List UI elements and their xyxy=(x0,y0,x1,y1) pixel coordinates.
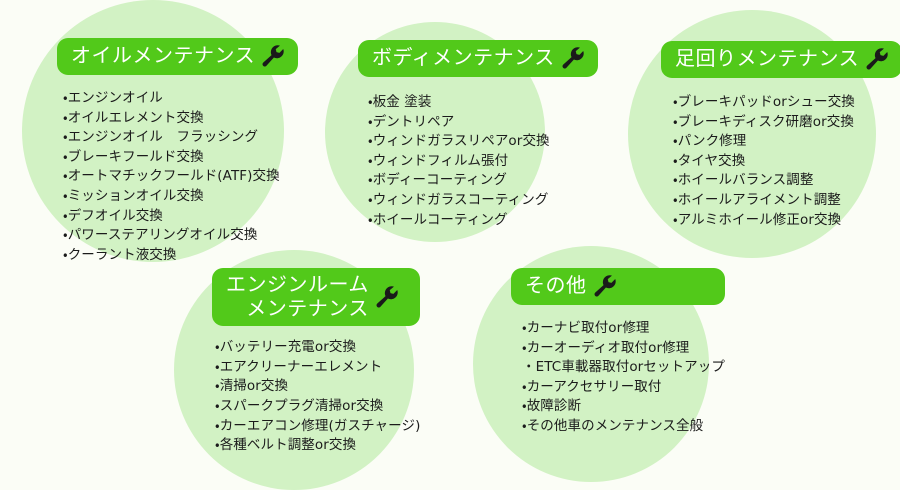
service-item: アルミホイール修正or交換 xyxy=(673,211,900,231)
service-item: ホイールバランス調整 xyxy=(673,171,900,191)
service-item: エンジンオイル xyxy=(63,89,298,109)
service-item: カーエアコン修理(ガスチャージ) xyxy=(215,417,420,437)
group-header-engine-room-maintenance: エンジンルームメンテナンス xyxy=(212,268,420,326)
group-title-other: その他 xyxy=(525,274,587,298)
group-title-suspension-maintenance: 足回りメンテナンス xyxy=(675,47,859,71)
service-item: オートマチックフールド(ATF)交換 xyxy=(63,167,298,187)
service-item: ホイールコーティング xyxy=(368,211,598,231)
service-item-list-body-maintenance: 板金 塗装デントリペアウィンドガラスリペアor交換ウィンドフィルム張付ボディーコ… xyxy=(368,93,598,230)
service-item: パンク修理 xyxy=(673,132,900,152)
wrench-icon xyxy=(864,46,890,72)
group-header-suspension-maintenance: 足回りメンテナンス xyxy=(661,41,900,78)
service-item-list-engine-room-maintenance: バッテリー充電or交換エアクリーナーエレメント清掃or交換スパークプラグ清掃or… xyxy=(215,338,420,456)
service-item: ブレーキディスク研磨or交換 xyxy=(673,113,900,133)
service-item: タイヤ交換 xyxy=(673,152,900,172)
service-item: カーナビ取付or修理 xyxy=(522,319,725,339)
service-item-list-other: カーナビ取付or修理カーオーディオ取付or修理ETC車載器取付orセットアップカ… xyxy=(522,319,725,437)
service-item: ETC車載器取付orセットアップ xyxy=(522,358,725,378)
service-item: ホイールアライメント調整 xyxy=(673,191,900,211)
service-item: デフオイル交換 xyxy=(63,207,298,227)
group-header-other: その他 xyxy=(511,268,725,305)
service-item: カーオーディオ取付or修理 xyxy=(522,339,725,359)
service-item: 板金 塗装 xyxy=(368,93,598,113)
service-item: 各種ベルト調整or交換 xyxy=(215,436,420,456)
services-diagram: オイルメンテナンス エンジンオイルオイルエレメント交換エンジンオイル フラッシン… xyxy=(0,0,900,490)
service-item: デントリペア xyxy=(368,113,598,133)
wrench-icon xyxy=(560,45,586,71)
wrench-icon xyxy=(592,273,618,299)
service-item: ミッションオイル交換 xyxy=(63,187,298,207)
service-item-list-oil-maintenance: エンジンオイルオイルエレメント交換エンジンオイル フラッシングブレーキフールド交… xyxy=(63,89,298,265)
service-item: 清掃or交換 xyxy=(215,377,420,397)
service-item: オイルエレメント交換 xyxy=(63,109,298,129)
service-item: カーアクセサリー取付 xyxy=(522,378,725,398)
service-group-oil-maintenance: オイルメンテナンス エンジンオイルオイルエレメント交換エンジンオイル フラッシン… xyxy=(57,38,298,265)
service-item: ウィンドフィルム張付 xyxy=(368,152,598,172)
service-item: ウィンドガラスコーティング xyxy=(368,191,598,211)
wrench-icon xyxy=(260,43,286,69)
service-item: ブレーキフールド交換 xyxy=(63,148,298,168)
service-item: クーラント液交換 xyxy=(63,246,298,266)
group-title-oil-maintenance: オイルメンテナンス xyxy=(71,44,255,68)
group-title-body-maintenance: ボディメンテナンス xyxy=(372,46,555,70)
group-header-body-maintenance: ボディメンテナンス xyxy=(358,40,598,77)
group-title-engine-room-maintenance: エンジンルームメンテナンス xyxy=(226,273,369,320)
wrench-icon xyxy=(374,284,400,310)
service-item: バッテリー充電or交換 xyxy=(215,338,420,358)
service-item: その他車のメンテナンス全般 xyxy=(522,417,725,437)
service-group-body-maintenance: ボディメンテナンス 板金 塗装デントリペアウィンドガラスリペアor交換ウィンドフ… xyxy=(358,40,598,230)
service-item: ウィンドガラスリペアor交換 xyxy=(368,132,598,152)
service-group-other: その他 カーナビ取付or修理カーオーディオ取付or修理ETC車載器取付orセット… xyxy=(511,268,725,437)
service-item: ブレーキパッドorシュー交換 xyxy=(673,93,900,113)
service-group-engine-room-maintenance: エンジンルームメンテナンス バッテリー充電or交換エアクリーナーエレメント清掃o… xyxy=(212,268,420,456)
service-group-suspension-maintenance: 足回りメンテナンス ブレーキパッドorシュー交換ブレーキディスク研磨or交換パン… xyxy=(661,41,900,230)
service-item: パワーステアリングオイル交換 xyxy=(63,226,298,246)
service-item: 故障診断 xyxy=(522,397,725,417)
service-item: エンジンオイル フラッシング xyxy=(63,128,298,148)
service-item-list-suspension-maintenance: ブレーキパッドorシュー交換ブレーキディスク研磨or交換パンク修理タイヤ交換ホイ… xyxy=(673,93,900,230)
group-header-oil-maintenance: オイルメンテナンス xyxy=(57,38,298,75)
service-item: スパークプラグ清掃or交換 xyxy=(215,397,420,417)
service-item: ボディーコーティング xyxy=(368,171,598,191)
service-item: エアクリーナーエレメント xyxy=(215,358,420,378)
